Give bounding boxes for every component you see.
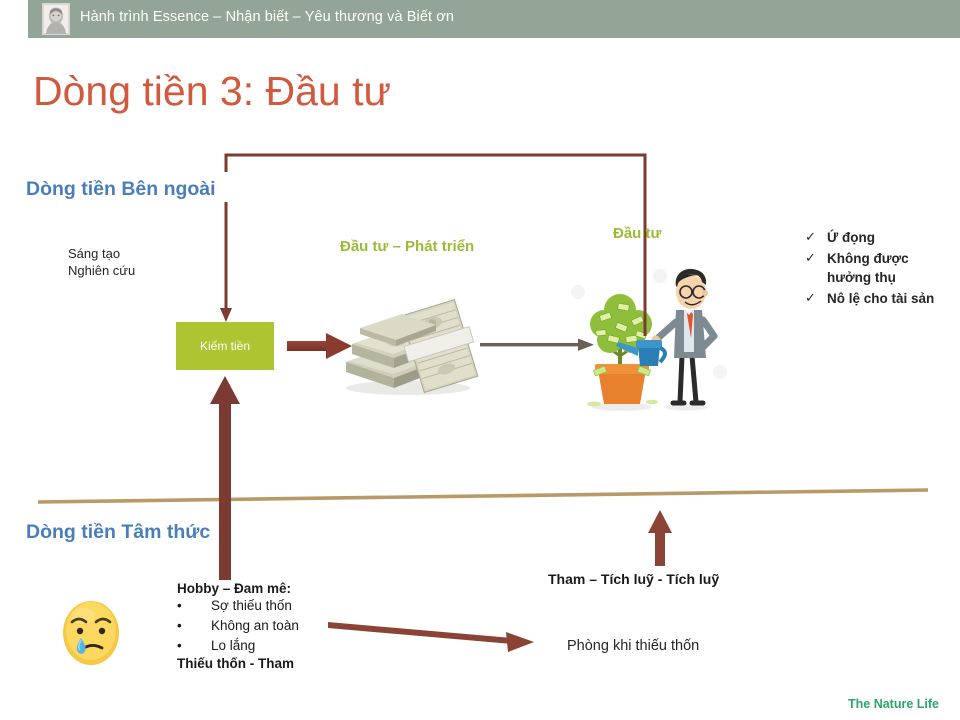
hobby-block: Hobby – Đam mê: Sợ thiếu thốn Không an t… [177,581,377,671]
hobby-bullet-label: Không an toàn [211,618,299,633]
hobby-footer-label: Thiếu thốn - Tham [177,656,377,671]
header-bar: Hành trình Essence – Nhận biết – Yêu thư… [28,0,960,38]
list-item: Lo lắng [177,636,377,656]
mindset-to-earn-arrow [210,376,240,580]
cash-stacks-icon [336,292,486,396]
check-icon: ✓ [805,228,827,246]
list-item: ✓ Ứ đọng [805,228,955,247]
list-item: ✓ Nô lệ cho tài sản [805,289,955,308]
list-item: Sợ thiếu thốn [177,596,377,616]
checklist-item-label: Ứ đọng [827,228,875,247]
money-tree-watering-icon [560,252,740,420]
heading-clip-mask-outer [222,172,342,202]
greed-accumulation-label: Tham – Tích luỹ - Tích luỹ [548,571,719,587]
header-title: Hành trình Essence – Nhận biết – Yêu thư… [80,9,454,25]
hobby-title: Hobby – Đam mê: [177,581,377,596]
slide-canvas: Hành trình Essence – Nhận biết – Yêu thư… [0,0,960,720]
checklist-item-label: Không được hưởng thụ [827,249,955,287]
portrait-photo-icon [42,3,70,35]
earn-money-box-label: Kiếm tiền [200,339,250,353]
check-icon: ✓ [805,249,827,267]
hobby-bullet-label: Sợ thiếu thốn [211,598,292,613]
consequences-checklist: ✓ Ứ đọng ✓ Không được hưởng thụ ✓ Nô lệ … [805,228,955,311]
crying-face-icon [55,598,127,668]
section-divider [38,490,928,502]
earn-money-box[interactable]: Kiếm tiền [176,322,274,370]
accumulation-up-arrow [648,510,672,566]
heading-clip-mask-inner [236,515,356,545]
outer-cashflow-heading: Dòng tiền Bên ngoài [26,178,216,201]
page-title: Dòng tiền 3: Đầu tư [33,68,391,115]
list-item: Không an toàn [177,616,377,636]
list-item: ✓ Không được hưởng thụ [805,249,955,287]
hobby-bullet-list: Sợ thiếu thốn Không an toàn Lo lắng [177,596,377,656]
inner-cashflow-heading: Dòng tiền Tâm thức [26,521,210,544]
invest-develop-label: Đầu tư – Phát triển [340,238,474,255]
checklist-item-label: Nô lệ cho tài sản [827,289,934,308]
check-icon: ✓ [805,289,827,307]
invest-label: Đầu tư [613,225,661,242]
reserve-text: Phòng khi thiếu thốn [567,636,727,657]
creative-research-text: Sáng tạo Nghiên cứu [68,245,135,279]
hobby-bullet-label: Lo lắng [211,638,255,653]
footer-brand: The Nature Life [848,697,939,711]
